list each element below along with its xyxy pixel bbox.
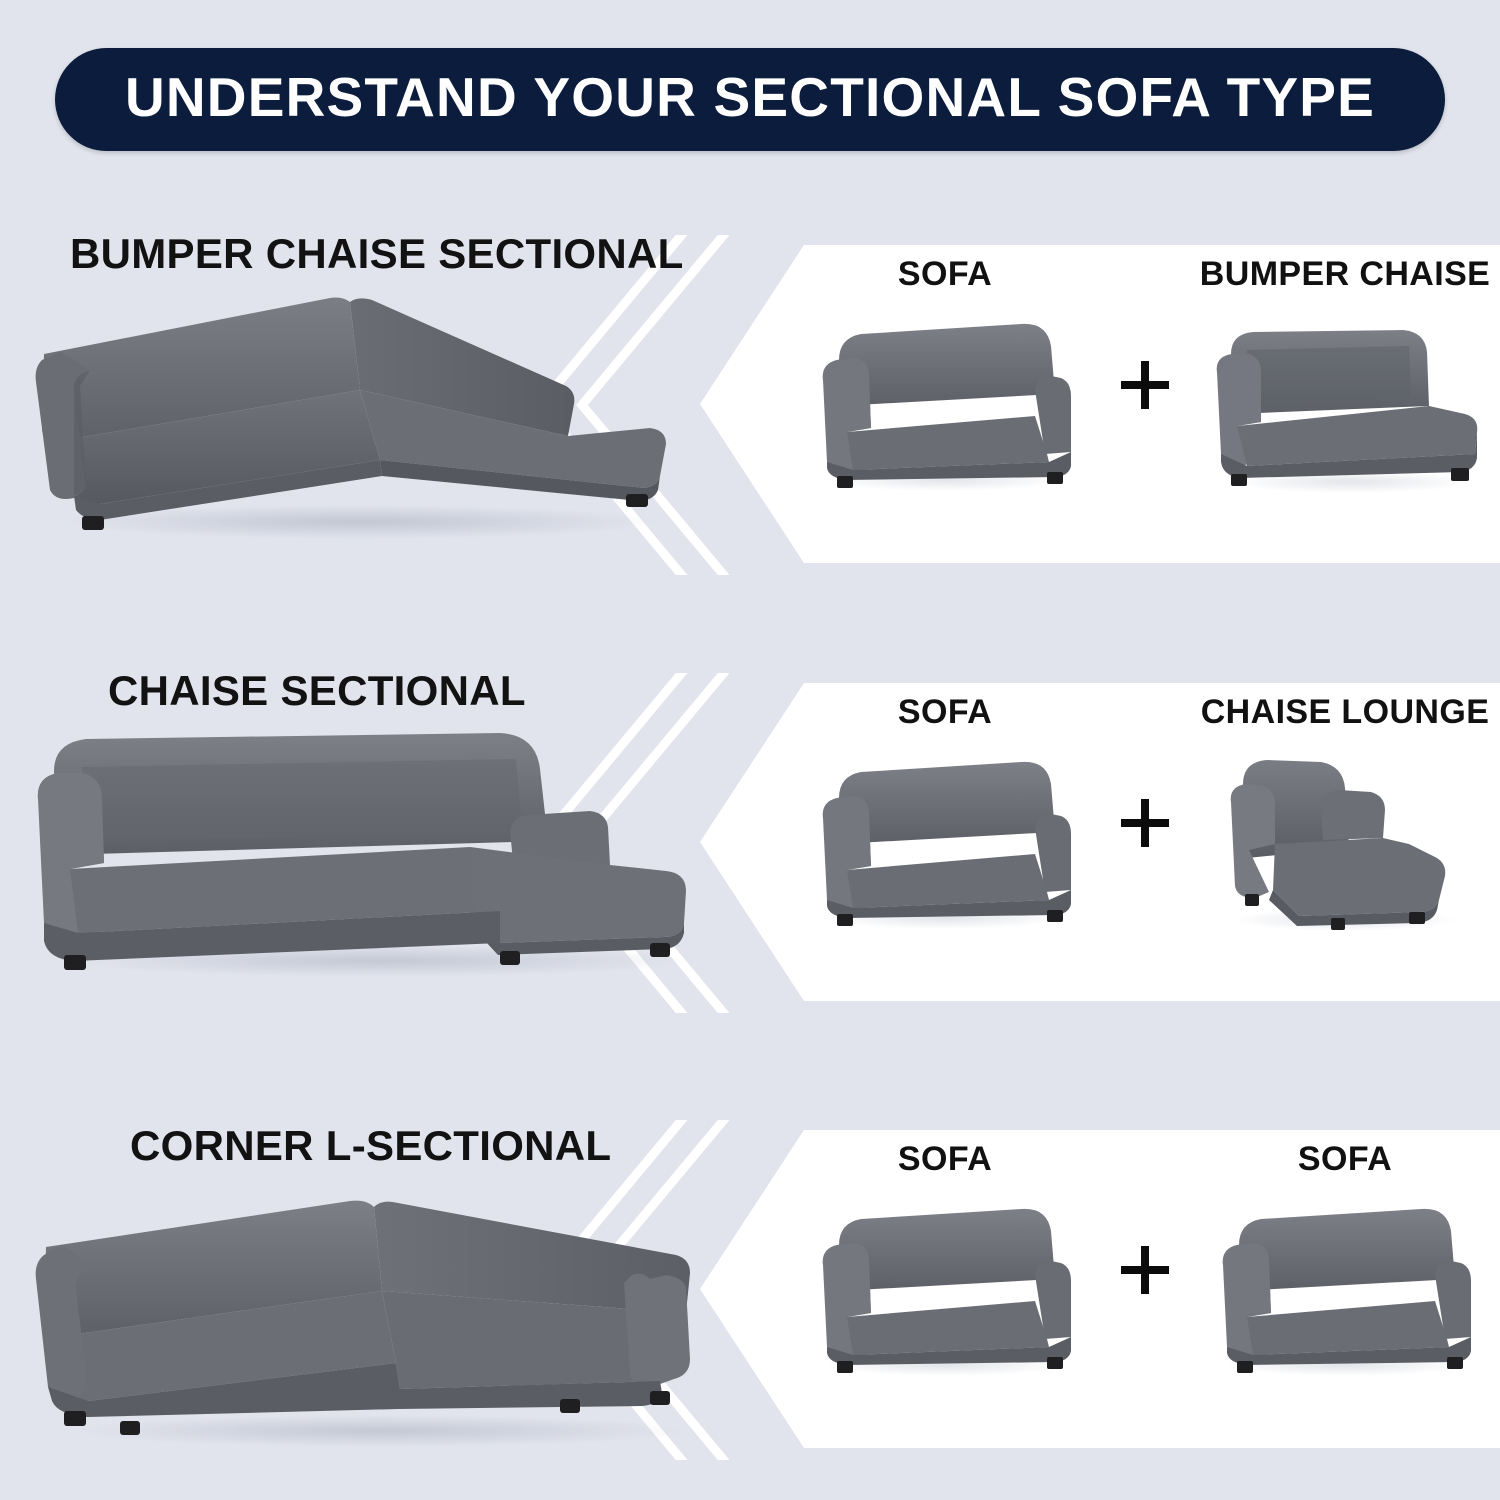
plus-icon (1117, 795, 1173, 851)
part-label: SOFA (898, 693, 992, 732)
parts-list: SOFA (790, 1140, 1500, 1440)
part-item: SOFA (800, 693, 1090, 935)
plus-operator (1090, 255, 1200, 515)
part-item: BUMPER CHAISE (1200, 255, 1490, 497)
part-label: SOFA (1298, 1140, 1392, 1179)
bumper-chaise-icon (1203, 302, 1488, 497)
plus-icon (1117, 1242, 1173, 1298)
row-title: BUMPER CHAISE SECTIONAL (70, 230, 684, 278)
part-label: SOFA (898, 255, 992, 294)
corner-l-sectional-sofa-icon (30, 1195, 720, 1450)
section-chaise-sectional: CHAISE SECTIONAL (0, 645, 1500, 1045)
sofa-three-seat-icon (803, 740, 1088, 935)
plus-operator (1090, 1140, 1200, 1400)
part-item: SOFA (1200, 1140, 1490, 1382)
part-item: SOFA (800, 1140, 1090, 1382)
section-corner-l-sectional: CORNER L-SECTIONAL (0, 1100, 1500, 1500)
plus-operator (1090, 693, 1200, 953)
row-title: CORNER L-SECTIONAL (130, 1122, 611, 1170)
part-label: BUMPER CHAISE (1200, 255, 1490, 294)
section-bumper-chaise-sectional: BUMPER CHAISE SECTIONAL (0, 215, 1500, 605)
part-item: CHAISE LOUNGE (1200, 693, 1490, 935)
page-title: UNDERSTAND YOUR SECTIONAL SOFA TYPE (125, 70, 1375, 125)
chaise-sectional-sofa-icon (30, 715, 720, 980)
parts-list: SOFA (790, 693, 1500, 993)
parts-list: SOFA (790, 255, 1500, 555)
sofa-three-seat-icon (803, 1187, 1088, 1382)
bumper-chaise-sectional-sofa-icon (30, 290, 690, 540)
sofa-three-seat-icon (803, 302, 1088, 497)
row-title: CHAISE SECTIONAL (108, 667, 526, 715)
plus-icon (1117, 357, 1173, 413)
sofa-three-seat-icon (1203, 1187, 1488, 1382)
part-label: CHAISE LOUNGE (1201, 693, 1490, 732)
part-item: SOFA (800, 255, 1090, 497)
part-label: SOFA (898, 1140, 992, 1179)
chaise-lounge-icon (1203, 740, 1488, 935)
header-banner: UNDERSTAND YOUR SECTIONAL SOFA TYPE (0, 48, 1500, 151)
header-pill: UNDERSTAND YOUR SECTIONAL SOFA TYPE (55, 48, 1445, 151)
